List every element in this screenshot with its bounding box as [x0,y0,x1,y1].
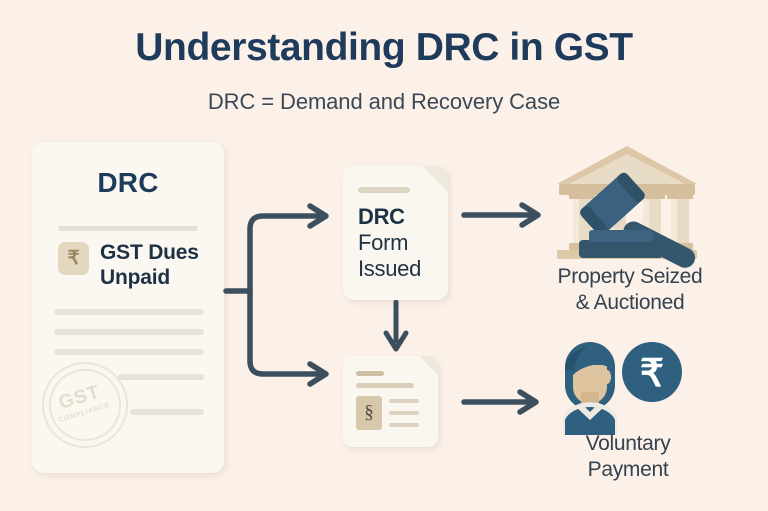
drc-form-line-2: Form [358,230,446,256]
arrowhead-to-person [520,392,536,412]
arrowhead-down [386,333,406,349]
person-label-line-2: Payment [518,457,738,483]
placeholder-line [54,329,204,335]
drc-form-line-3: Issued [358,256,446,282]
page-title: Understanding DRC in GST [0,26,768,70]
drc-form-card: DRC Form Issued [343,166,448,300]
placeholder-line [389,399,419,403]
drc-form-text: DRC Form Issued [358,204,446,282]
page-fold-corner-icon [419,356,438,375]
bank-outcome-label: Property Seized & Auctioned [505,264,755,316]
drc-form-line-1: DRC [358,204,446,230]
arrowhead-to-form-card [310,206,326,226]
svg-text:₹: ₹ [640,353,664,395]
placeholder-line [389,411,419,415]
gst-compliance-stamp-icon: GST COMPLIANCE [32,351,139,458]
placeholder-line [356,383,414,388]
placeholder-line [356,371,384,376]
source-document-heading: DRC [32,167,224,199]
legal-notice-card: § [343,356,438,447]
source-document-card: DRC ₹ GST Dues Unpaid GST COMPLIANCE [32,142,224,473]
placeholder-line [130,409,204,415]
branch-arm-upper [250,216,318,291]
placeholder-line [54,349,204,355]
page-fold-corner-icon [422,166,448,192]
rupee-icon: ₹ [58,242,89,275]
person-label-line-1: Voluntary [518,431,738,457]
arrowhead-to-bank [522,205,538,225]
section-symbol-icon: § [356,396,382,430]
infographic-canvas: Understanding DRC in GST DRC = Demand an… [0,0,768,511]
placeholder-line [389,423,419,427]
source-document-label: GST Dues Unpaid [100,240,220,290]
placeholder-line [54,309,204,315]
placeholder-line [358,187,410,193]
placeholder-line [118,374,204,380]
bank-label-line-1: Property Seized [505,264,755,290]
bank-label-line-2: & Auctioned [505,290,755,316]
branch-arm-lower [250,291,318,374]
person-outcome-label: Voluntary Payment [518,431,738,483]
page-subtitle: DRC = Demand and Recovery Case [0,89,768,115]
arrowhead-to-mini-card [310,364,326,384]
person-rupee-icon: ₹ [543,337,683,435]
divider [58,226,198,231]
bank-gavel-icon [551,142,703,272]
